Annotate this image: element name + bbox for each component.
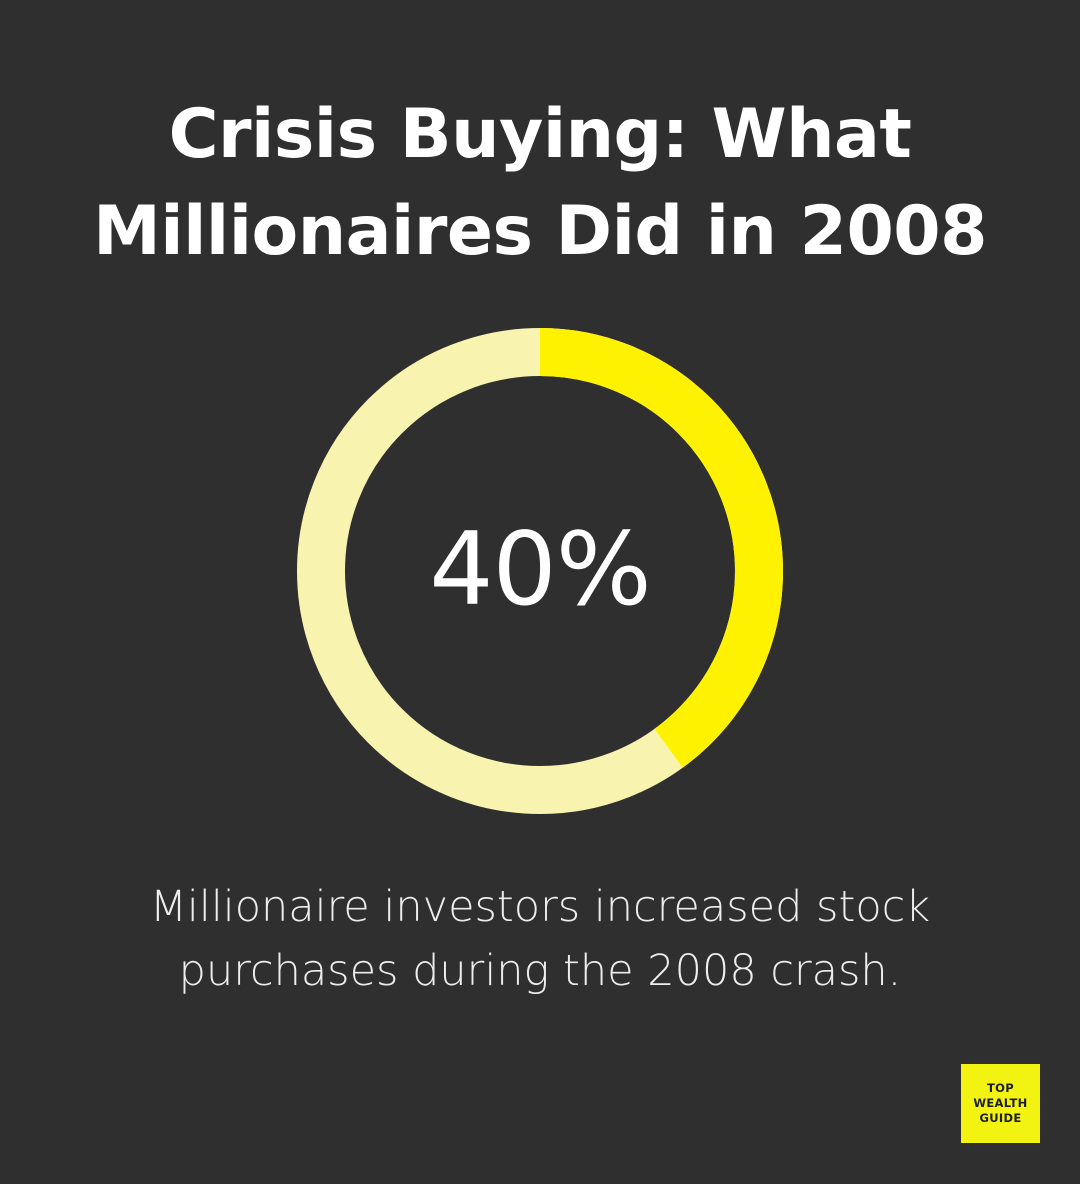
caption: Millionaire investors increased stock pu…	[0, 875, 1080, 1003]
title-line-2: Millionaires Did in 2008	[55, 183, 1025, 280]
donut-center-value: 40%	[297, 328, 783, 814]
donut-center-value-text: 40%	[429, 519, 651, 620]
caption-line-1: Millionaire investors increased stock	[100, 875, 980, 939]
brand-logo-line-1: TOP	[987, 1081, 1014, 1096]
brand-logo-line-2: WEALTH	[973, 1096, 1027, 1111]
brand-logo: TOP WEALTH GUIDE	[961, 1064, 1040, 1143]
title-line-1: Crisis Buying: What	[55, 86, 1025, 183]
brand-logo-line-3: GUIDE	[980, 1111, 1022, 1126]
donut-chart: 40%	[297, 328, 783, 814]
page-title: Crisis Buying: What Millionaires Did in …	[0, 86, 1080, 280]
caption-line-2: purchases during the 2008 crash.	[100, 939, 980, 1003]
infographic-canvas: Crisis Buying: What Millionaires Did in …	[0, 0, 1080, 1184]
